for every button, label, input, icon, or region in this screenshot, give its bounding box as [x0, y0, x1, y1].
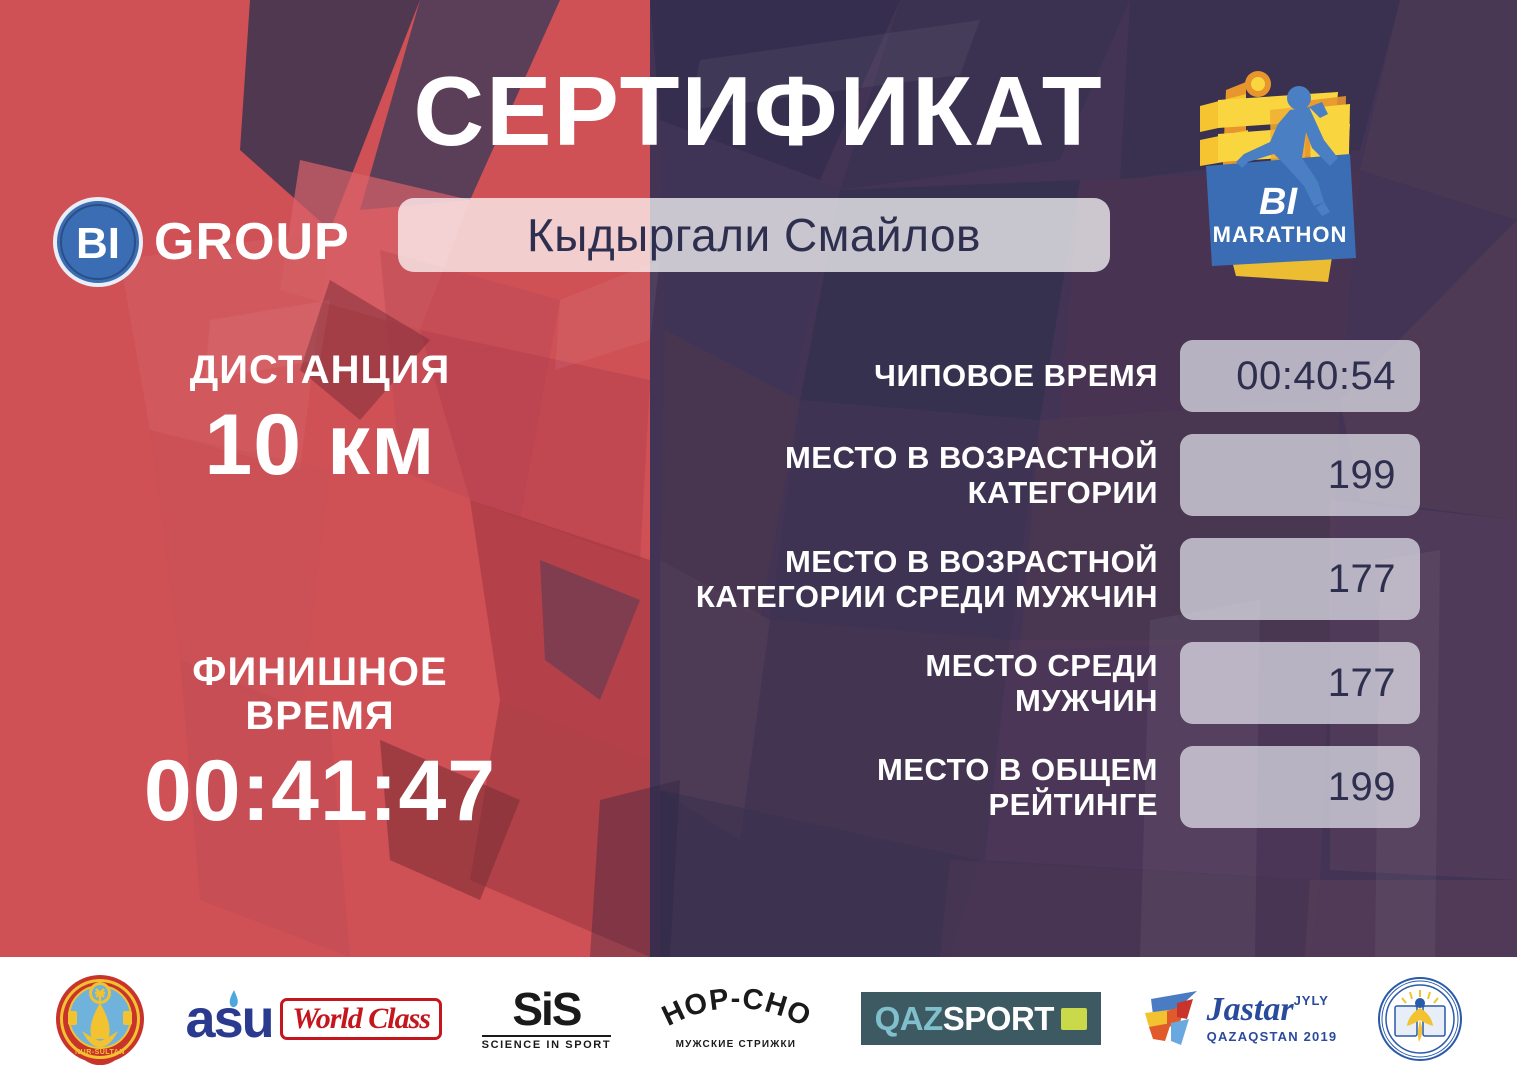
stat-label-line2: МУЖЧИН — [520, 683, 1158, 718]
stat-label: МЕСТО В ВОЗРАСТНОЙ КАТЕГОРИИ — [520, 440, 1180, 510]
stat-label-line1: МЕСТО В ОБЩЕМ — [520, 752, 1158, 787]
stats-list: ЧИПОВОЕ ВРЕМЯ 00:40:54 МЕСТО В ВОЗРАСТНО… — [520, 340, 1420, 850]
stat-label-line2: КАТЕГОРИИ — [520, 475, 1158, 510]
stat-value-badge: 177 — [1180, 538, 1420, 620]
stat-value-badge: 177 — [1180, 642, 1420, 724]
stat-label: МЕСТО В ВОЗРАСТНОЙ КАТЕГОРИИ СРЕДИ МУЖЧИ… — [520, 544, 1180, 614]
sponsor-chop-chop: CHOP-CHOP МУЖСКИЕ СТРИЖКИ — [651, 969, 821, 1069]
stat-row-overall-place: МЕСТО В ОБЩЕМ РЕЙТИНГЕ 199 — [520, 746, 1420, 828]
sis-wordmark: SiS — [512, 986, 580, 1032]
jastar-arrow-icon — [1141, 985, 1203, 1053]
sponsor-nur-sultan-emblem: NUR-SULTAN — [54, 969, 146, 1069]
bi-marathon-mark-icon: BI MARATHON — [1178, 62, 1393, 292]
svg-text:BI: BI — [1259, 181, 1298, 223]
stat-label-line1: МЕСТО В ВОЗРАСТНОЙ — [520, 440, 1158, 475]
chop-chop-arc-icon: CHOP-CHOP — [651, 988, 821, 1036]
bi-marathon-logo: BI MARATHON — [1178, 62, 1393, 292]
certificate: СЕРТИФИКАТ Кыдыргали Смайлов BI GROUP — [0, 0, 1517, 1080]
stat-label-line2: КАТЕГОРИИ СРЕДИ МУЖЧИН — [520, 579, 1158, 614]
sponsor-bar: NUR-SULTAN asu World Class SiS SCIENCE I… — [0, 957, 1517, 1080]
finish-time-value: 00:41:47 — [60, 746, 580, 836]
qazsport-accent-block — [1061, 1008, 1087, 1030]
stat-label-line1: ЧИПОВОЕ ВРЕМЯ — [520, 358, 1158, 393]
svg-text:CHOP-CHOP: CHOP-CHOP — [651, 988, 816, 1033]
finish-time-label-line1: ФИНИШНОЕ — [60, 650, 580, 694]
distance-label: ДИСТАНЦИЯ — [60, 348, 580, 392]
sponsor-world-class: World Class — [280, 969, 442, 1069]
finish-time-label-line2: ВРЕМЯ — [60, 694, 580, 738]
stat-label-line2: РЕЙТИНГЕ — [520, 787, 1158, 822]
sponsor-asu: asu — [186, 969, 241, 1069]
finish-time-block: ФИНИШНОЕ ВРЕМЯ 00:41:47 — [60, 650, 580, 836]
world-class-wordmark: World Class — [280, 998, 442, 1040]
stat-label: ЧИПОВОЕ ВРЕМЯ — [520, 358, 1180, 393]
qazsport-word-a: QAZ — [875, 1002, 943, 1035]
stat-row-chip-time: ЧИПОВОЕ ВРЕМЯ 00:40:54 — [520, 340, 1420, 412]
sponsor-sis: SiS SCIENCE IN SPORT — [482, 969, 612, 1069]
stat-label: МЕСТО В ОБЩЕМ РЕЙТИНГЕ — [520, 752, 1180, 822]
jastar-superscript: JYLY — [1294, 993, 1329, 1008]
stat-row-men-place: МЕСТО СРЕДИ МУЖЧИН 177 — [520, 642, 1420, 724]
sponsor-jastar-jyly: Jastar JYLY QAZAQSTAN 2019 — [1141, 969, 1338, 1069]
participant-name-badge: Кыдыргали Смайлов — [398, 198, 1110, 272]
bi-group-logo: BI GROUP — [52, 196, 350, 288]
bi-group-word: GROUP — [154, 216, 350, 268]
jastar-wordmark: Jastar — [1207, 993, 1294, 1027]
sis-tagline: SCIENCE IN SPORT — [482, 1035, 612, 1051]
stat-value-badge: 00:40:54 — [1180, 340, 1420, 412]
stat-value-badge: 199 — [1180, 746, 1420, 828]
stat-row-age-category-men-place: МЕСТО В ВОЗРАСТНОЙ КАТЕГОРИИ СРЕДИ МУЖЧИ… — [520, 538, 1420, 620]
stat-value-badge: 199 — [1180, 434, 1420, 516]
distance-block: ДИСТАНЦИЯ 10 км — [60, 348, 580, 490]
sponsor-qazsport: QAZ SPORT — [861, 969, 1101, 1069]
svg-text:BI: BI — [76, 219, 120, 268]
chop-chop-tagline: МУЖСКИЕ СТРИЖКИ — [676, 1039, 797, 1050]
bi-group-mark-icon: BI — [52, 196, 144, 288]
stat-label-line1: МЕСТО СРЕДИ — [520, 648, 1158, 683]
sponsor-ministry-emblem — [1377, 969, 1463, 1069]
jastar-tagline: QAZAQSTAN 2019 — [1207, 1029, 1338, 1044]
nur-sultan-emblem-icon: NUR-SULTAN — [54, 973, 146, 1065]
asu-droplet-icon — [227, 990, 241, 1014]
svg-text:MARATHON: MARATHON — [1213, 222, 1348, 247]
stat-row-age-category-place: МЕСТО В ВОЗРАСТНОЙ КАТЕГОРИИ 199 — [520, 434, 1420, 516]
ministry-emblem-icon — [1377, 976, 1463, 1062]
stat-label: МЕСТО СРЕДИ МУЖЧИН — [520, 648, 1180, 718]
qazsport-word-b: SPORT — [943, 1002, 1054, 1035]
distance-value: 10 км — [60, 400, 580, 490]
svg-text:NUR-SULTAN: NUR-SULTAN — [75, 1049, 125, 1056]
stat-label-line1: МЕСТО В ВОЗРАСТНОЙ — [520, 544, 1158, 579]
